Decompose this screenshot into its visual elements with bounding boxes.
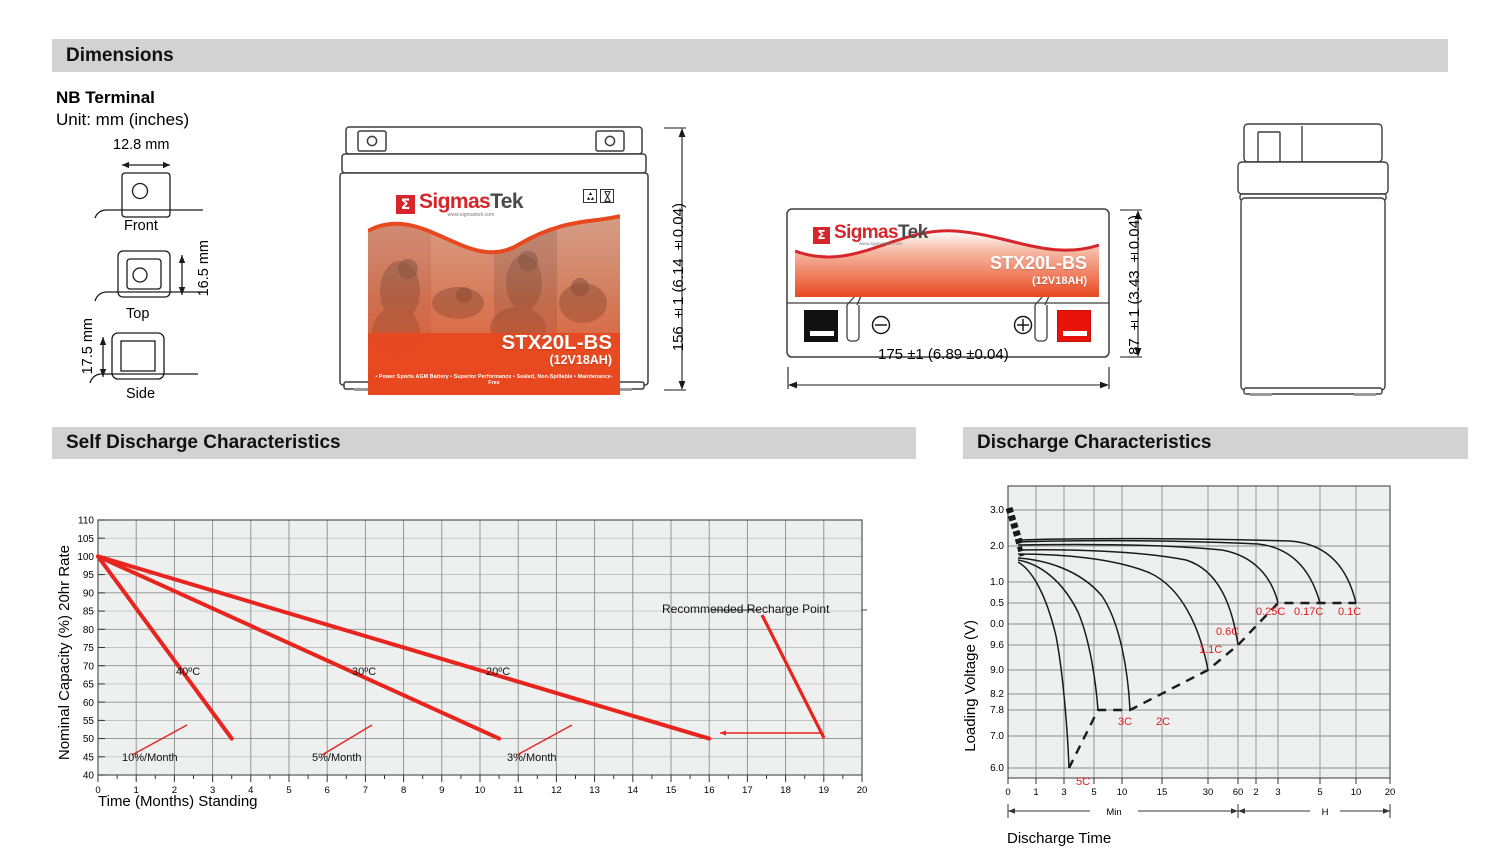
svg-text:5: 5	[286, 785, 291, 795]
svg-text:5: 5	[1317, 787, 1322, 798]
section-title-discharge: Discharge Characteristics	[977, 432, 1211, 454]
svg-text:110: 110	[78, 516, 94, 527]
label-2c: 2C	[1156, 716, 1170, 728]
battery-front-label: Σ SigmasTek www.sigmastek.com STX20L-BS …	[368, 183, 620, 395]
terminal-unit-note: Unit: mm (inches)	[56, 110, 189, 130]
svg-text:20: 20	[1385, 787, 1396, 798]
negative-terminal-block	[804, 310, 838, 342]
svg-text:0: 0	[95, 785, 100, 795]
terminal-view-side-label: Side	[126, 386, 155, 402]
anno-40c: 40ºC	[176, 666, 200, 678]
label-5c: 5C	[1076, 776, 1090, 788]
battery-front-tagline: • Power Sports AGM Battery • Superior Pe…	[372, 374, 616, 386]
svg-text:13: 13	[589, 785, 600, 795]
svg-text:11.0: 11.0	[990, 577, 1004, 588]
svg-text:0: 0	[1005, 787, 1010, 798]
section-header-self-discharge: Self Discharge Characteristics	[52, 427, 916, 459]
self-discharge-x-axis-title: Time (Months) Standing	[98, 793, 258, 810]
svg-text:10.0: 10.0	[990, 619, 1004, 630]
svg-text:2: 2	[172, 785, 177, 795]
battery-top-model: STX20L-BS	[990, 253, 1087, 274]
svg-text:60: 60	[83, 698, 95, 709]
self-discharge-chart: 110 105 100 95 90 85 80 75 70 65 60 55 5…	[72, 505, 872, 795]
label-0-25c: 0.25C	[1256, 606, 1285, 618]
anno-30c: 30ºC	[352, 666, 376, 678]
svg-text:10: 10	[1351, 787, 1362, 798]
anno-20c: 20ºC	[486, 666, 510, 678]
hourglass-icon	[600, 189, 614, 203]
svg-text:55: 55	[83, 716, 95, 727]
svg-text:6.0: 6.0	[990, 763, 1004, 774]
terminal-height-label: 17.5 mm	[80, 318, 96, 374]
anno-5pct: 5%/Month	[312, 752, 362, 764]
svg-text:85: 85	[83, 607, 95, 618]
terminal-views-drawing	[60, 155, 290, 420]
svg-text:60: 60	[1233, 787, 1244, 798]
sigma-mark-icon: Σ	[396, 195, 415, 214]
svg-text:10: 10	[1117, 787, 1128, 798]
svg-text:40: 40	[83, 771, 95, 782]
svg-text:105: 105	[77, 534, 94, 545]
svg-text:8: 8	[401, 785, 406, 795]
battery-top-logo: Σ SigmasTek www.sigmastek.com	[813, 223, 928, 248]
section-title-dimensions: Dimensions	[66, 45, 174, 67]
svg-text:1: 1	[1033, 787, 1038, 798]
brand-name-sigmas: Sigmas	[419, 190, 490, 213]
svg-text:7.8: 7.8	[990, 705, 1004, 716]
section-header-dimensions: Dimensions	[52, 39, 1448, 72]
svg-text:15: 15	[666, 785, 677, 795]
svg-text:3: 3	[1061, 787, 1066, 798]
discharge-x-axis-title: Discharge Time	[1007, 830, 1111, 847]
section-header-discharge: Discharge Characteristics	[963, 427, 1468, 459]
svg-text:3: 3	[1275, 787, 1280, 798]
x-unit-hour: H	[1322, 807, 1329, 818]
recycle-icon	[583, 189, 597, 203]
anno-10pct: 10%/Month	[122, 752, 178, 764]
battery-top-label: Σ SigmasTek www.sigmastek.com STX20L-BS …	[795, 217, 1099, 297]
svg-text:9.0: 9.0	[990, 665, 1004, 676]
terminal-view-front-label: Front	[124, 218, 158, 234]
svg-text:70: 70	[83, 661, 95, 672]
svg-text:10: 10	[475, 785, 486, 795]
terminal-heading: NB Terminal	[56, 88, 155, 108]
battery-top-width-label: 175 ±1 (6.89 ±0.04)	[878, 346, 1009, 363]
svg-text:7.0: 7.0	[990, 731, 1004, 742]
x-unit-min: Min	[1106, 807, 1121, 818]
brand-url: www.sigmastek.com	[419, 213, 523, 218]
svg-text:80: 80	[83, 625, 95, 636]
battery-top-capacity: (12V18AH)	[1032, 275, 1087, 287]
svg-text:90: 90	[83, 589, 95, 600]
terminal-view-top-label: Top	[126, 306, 149, 322]
svg-text:6: 6	[325, 785, 330, 795]
svg-text:7: 7	[363, 785, 368, 795]
battery-top-depth-label: 87 ±1 (3.43 ±0.04)	[1126, 215, 1143, 355]
svg-text:4: 4	[248, 785, 253, 795]
svg-text:12.0: 12.0	[990, 541, 1004, 552]
label-1-1c: 1.1C	[1199, 644, 1222, 656]
svg-text:13.0: 13.0	[990, 505, 1004, 516]
battery-side-profile-drawing	[1226, 118, 1406, 408]
brand-url-top: www.sigmastek.com	[834, 243, 928, 248]
svg-text:18: 18	[780, 785, 791, 795]
label-0-17c: 0.17C	[1294, 606, 1323, 618]
brand-name-tek-top: Tek	[898, 222, 928, 243]
battery-top-width-dimension	[785, 363, 1115, 393]
svg-text:45: 45	[83, 752, 95, 763]
anno-3pct: 3%/Month	[507, 752, 557, 764]
svg-text:11: 11	[513, 785, 523, 795]
discharge-chart: 13.0 12.0 11.0 10.5 10.0 9.6 9.0 8.2 7.8…	[990, 478, 1420, 826]
svg-text:19: 19	[819, 785, 830, 795]
negative-terminal-slot	[810, 331, 834, 336]
sigma-mark-icon-top: Σ	[813, 227, 830, 244]
label-3c: 3C	[1118, 716, 1132, 728]
svg-text:100: 100	[77, 552, 94, 563]
positive-terminal-slot	[1063, 331, 1087, 336]
positive-terminal-block	[1057, 310, 1091, 342]
svg-text:10.5: 10.5	[990, 598, 1004, 609]
discharge-y-axis-title: Loading Voltage (V)	[962, 620, 979, 752]
battery-front-capacity: (12V18AH)	[549, 353, 612, 367]
svg-text:5: 5	[1091, 787, 1096, 798]
section-title-self-discharge: Self Discharge Characteristics	[66, 432, 341, 454]
label-0-1c: 0.1C	[1338, 606, 1361, 618]
svg-text:50: 50	[83, 734, 95, 745]
svg-text:9: 9	[439, 785, 444, 795]
svg-text:75: 75	[83, 643, 95, 654]
svg-text:20: 20	[857, 785, 868, 795]
compliance-icons	[583, 189, 614, 203]
svg-text:1: 1	[134, 785, 139, 795]
battery-front-logo: Σ SigmasTek www.sigmastek.com	[396, 191, 523, 218]
battery-front-model: STX20L-BS	[502, 331, 613, 355]
brand-name-tek: Tek	[490, 190, 523, 213]
terminal-depth-label: 16.5 mm	[196, 240, 212, 296]
terminal-width-label: 12.8 mm	[113, 137, 169, 153]
svg-text:17: 17	[742, 785, 753, 795]
anno-recharge-point: Recommended Recharge Point	[662, 602, 830, 616]
svg-text:30: 30	[1203, 787, 1214, 798]
svg-text:16: 16	[704, 785, 715, 795]
svg-text:12: 12	[551, 785, 562, 795]
svg-text:8.2: 8.2	[990, 689, 1004, 700]
svg-text:9.6: 9.6	[990, 640, 1004, 651]
svg-text:14: 14	[628, 785, 639, 795]
svg-text:65: 65	[83, 680, 95, 691]
brand-name-sigmas-top: Sigmas	[834, 222, 898, 243]
svg-text:15: 15	[1157, 787, 1168, 798]
svg-text:95: 95	[83, 570, 95, 581]
label-0-6c: 0.6C	[1216, 626, 1239, 638]
svg-text:3: 3	[210, 785, 215, 795]
battery-front-height-label: 156 ±1 (6.14 ±0.04)	[670, 203, 687, 351]
svg-text:2: 2	[1253, 787, 1258, 798]
self-discharge-y-axis-title: Nominal Capacity (%) 20hr Rate	[56, 545, 73, 760]
